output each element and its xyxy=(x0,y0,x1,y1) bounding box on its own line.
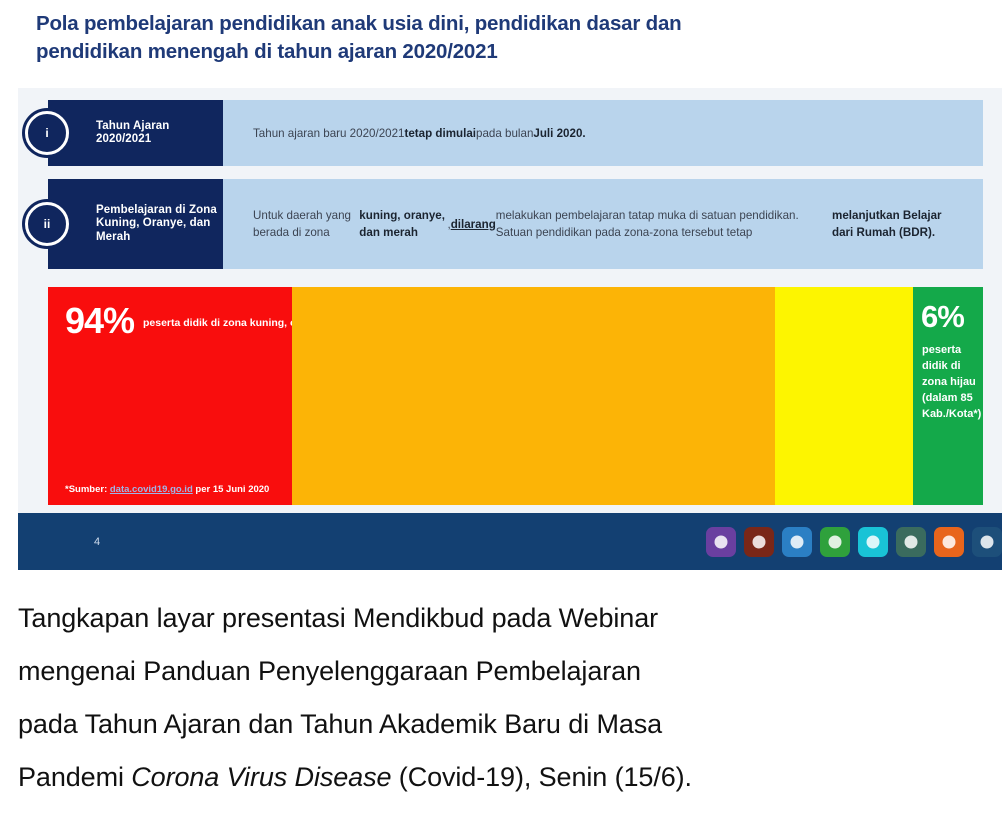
ministry-logo-strip xyxy=(706,527,1002,557)
page-title-line-1: Pola pembelajaran pendidikan anak usia d… xyxy=(36,10,916,38)
info-body-fragment: Untuk daerah yang berada di zona xyxy=(253,207,359,241)
info-body-fragment: melanjutkan Belajar dari Rumah (BDR). xyxy=(832,207,961,241)
image-caption: Tangkapan layar presentasi Mendikbud pad… xyxy=(18,592,978,804)
info-body-text: Tahun ajaran baru 2020/2021 tetap dimula… xyxy=(223,100,983,166)
info-body-text: Untuk daerah yang berada di zona kuning,… xyxy=(223,179,983,269)
logo-kemenag-icon xyxy=(744,527,774,557)
info-row-tahun-ajaran: i Tahun Ajaran 2020/2021 Tahun ajaran ba… xyxy=(48,100,983,166)
logo-bnpb-icon xyxy=(934,527,964,557)
caption-italic-title: Corona Virus Disease xyxy=(131,762,391,792)
source-note: *Sumber: data.covid19.go.id per 15 Juni … xyxy=(65,484,269,495)
info-row-zona-kuning-oranye-merah: ii Pembelajaran di Zona Kuning, Oranye, … xyxy=(48,179,983,269)
zone-distribution-bar: 94% peserta didik di zona kuning, oranye… xyxy=(48,287,983,505)
caption-line-4: Pandemi Corona Virus Disease (Covid-19),… xyxy=(18,751,978,804)
zone-right-description: peserta didik di zona hijau (dalam 85 Ka… xyxy=(922,342,983,422)
badge-numeral: ii xyxy=(44,217,51,231)
presentation-slide: i Tahun Ajaran 2020/2021 Tahun ajaran ba… xyxy=(18,88,1002,513)
page-title: Pola pembelajaran pendidikan anak usia d… xyxy=(36,10,916,66)
zone-segment-kuning xyxy=(775,287,913,505)
zone-segment-hijau: 6% peserta didik di zona hijau (dalam 85… xyxy=(913,287,983,505)
source-prefix: *Sumber: xyxy=(65,484,110,495)
page-title-line-2: pendidikan menengah di tahun ajaran 2020… xyxy=(36,38,916,66)
info-body-fragment: pada bulan xyxy=(476,125,533,142)
logo-kemendikbud-ri-icon xyxy=(706,527,736,557)
info-body-fragment: kuning, oranye, dan merah xyxy=(359,207,447,241)
info-body-fragment: tetap dimulai xyxy=(405,125,477,142)
logo-satgas-covid-icon xyxy=(858,527,888,557)
source-link[interactable]: data.covid19.go.id xyxy=(110,484,193,495)
zone-left-percent: 94% xyxy=(65,303,134,339)
info-tab-title: Tahun Ajaran 2020/2021 xyxy=(96,120,169,147)
logo-kemenkes-icon xyxy=(782,527,812,557)
slide-page-number: 4 xyxy=(94,536,100,548)
info-tab-title-line-3: Merah xyxy=(96,231,217,245)
logo-gugus-tugas-icon xyxy=(896,527,926,557)
info-body-fragment: dilarang xyxy=(451,216,496,233)
caption-post: (Covid-19), Senin (15/6). xyxy=(391,762,692,792)
info-tab-title-line-1: Tahun Ajaran xyxy=(96,120,169,134)
caption-line-2: mengenai Panduan Penyelenggaraan Pembela… xyxy=(18,645,978,698)
info-tab-tahun-ajaran: i Tahun Ajaran 2020/2021 xyxy=(48,100,223,166)
zone-segment-merah: 94% peserta didik di zona kuning, oranye… xyxy=(48,287,292,505)
info-tab-title-line-1: Pembelajaran di Zona xyxy=(96,204,217,218)
slide-canvas: i Tahun Ajaran 2020/2021 Tahun ajaran ba… xyxy=(18,88,1002,513)
zone-segment-oranye xyxy=(292,287,775,505)
caption-line-1: Tangkapan layar presentasi Mendikbud pad… xyxy=(18,592,978,645)
info-tab-title-line-2: 2020/2021 xyxy=(96,133,169,147)
roman-numeral-badge-i: i xyxy=(25,111,69,155)
info-tab-pembelajaran-zona: ii Pembelajaran di Zona Kuning, Oranye, … xyxy=(48,179,223,269)
info-tab-title: Pembelajaran di Zona Kuning, Oranye, dan… xyxy=(96,204,217,245)
zone-right-percent: 6% xyxy=(921,301,964,332)
info-body-fragment: melakukan pembelajaran tatap muka di sat… xyxy=(496,207,832,241)
slide-footer: 4 xyxy=(18,513,1002,570)
badge-numeral: i xyxy=(45,126,48,140)
caption-pre: Pandemi xyxy=(18,762,131,792)
source-suffix: per 15 Juni 2020 xyxy=(193,484,270,495)
info-body-fragment: Juli 2020. xyxy=(533,125,585,142)
caption-line-3: pada Tahun Ajaran dan Tahun Akademik Bar… xyxy=(18,698,978,751)
info-tab-title-line-2: Kuning, Oranye, dan xyxy=(96,217,217,231)
roman-numeral-badge-ii: ii xyxy=(25,202,69,246)
info-body-fragment: Tahun ajaran baru 2020/2021 xyxy=(253,125,405,142)
logo-kemendagri-icon xyxy=(820,527,850,557)
logo-pemerintah-icon xyxy=(972,527,1002,557)
